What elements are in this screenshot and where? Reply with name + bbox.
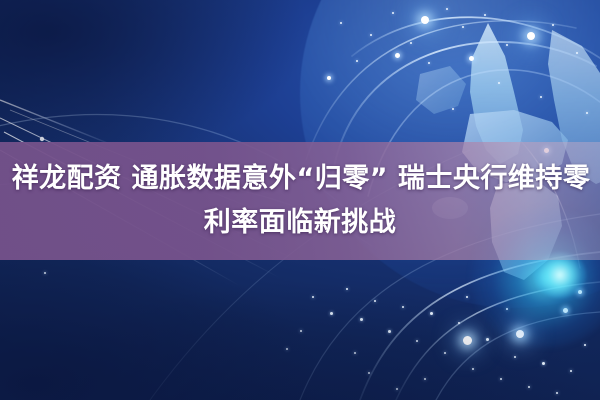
headline-line-1: 祥龙配资 通胀数据意外“归零” 瑞士央行维持零 xyxy=(10,157,591,201)
headline-container: 祥龙配资 通胀数据意外“归零” 瑞士央行维持零 利率面临新挑战 xyxy=(0,142,600,260)
headline-line-2: 利率面临新挑战 xyxy=(204,201,397,245)
banner-image: 祥龙配资 通胀数据意外“归零” 瑞士央行维持零 利率面临新挑战 xyxy=(0,0,600,400)
